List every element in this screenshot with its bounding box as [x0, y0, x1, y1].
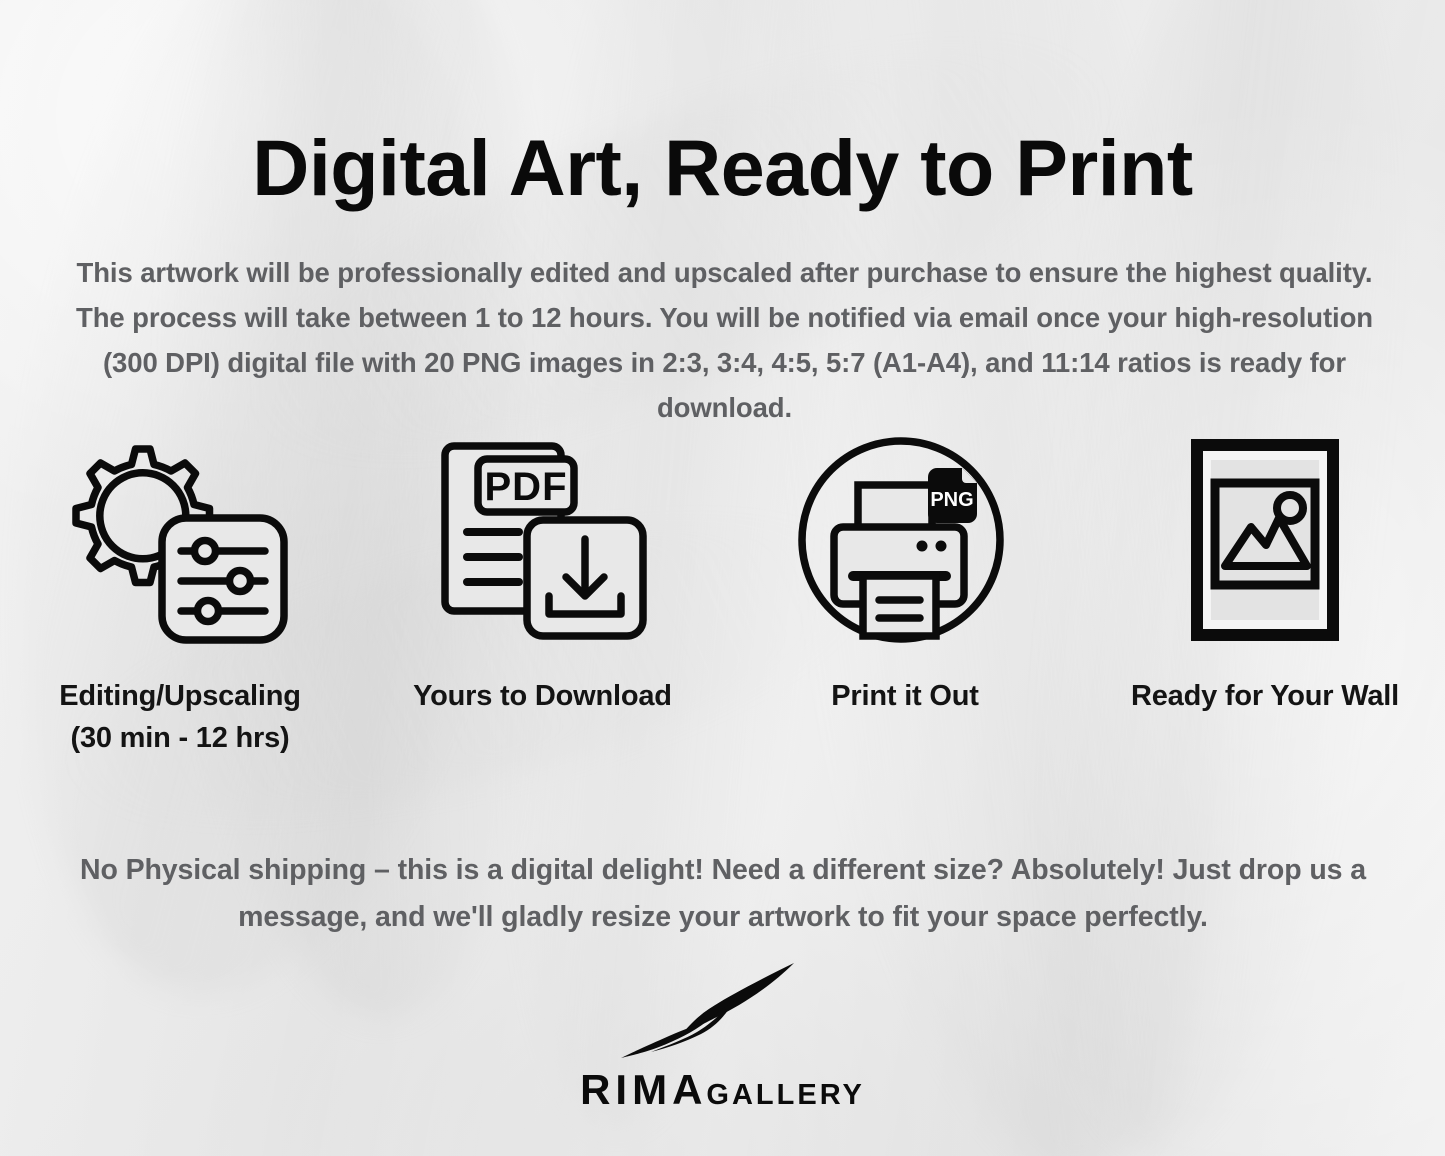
logo-name-primary: RIM	[580, 1066, 672, 1114]
feature-item-print-it-out: PNG Print it Out	[725, 418, 1085, 717]
feature-item-yours-to-download: PDF Yours to Download	[360, 418, 725, 717]
page-title: Digital Art, Ready to Print	[0, 127, 1445, 210]
feature-label-line1: Ready for Your Wall	[1131, 675, 1399, 717]
logo-name-secondary: GALLERY	[706, 1079, 864, 1112]
gear-settings-sliders-icon	[64, 418, 296, 663]
feature-label: Editing/Upscaling (30 min - 12 hrs)	[59, 675, 301, 759]
feature-label: Ready for Your Wall	[1131, 675, 1399, 717]
brand-logo: RIM A GALLERY	[0, 952, 1445, 1114]
printer-in-circle-icon: PNG	[794, 418, 1016, 663]
feature-item-ready-for-your-wall: Ready for Your Wall	[1085, 418, 1445, 717]
rima-swoosh-mark-icon	[593, 952, 853, 1064]
png-badge-text: PNG	[930, 489, 973, 511]
pdf-document-download-icon: PDF	[437, 418, 649, 663]
feature-label-line1: Print it Out	[831, 675, 978, 717]
logo-name-triangle-a: A	[672, 1066, 704, 1114]
intro-paragraph: This artwork will be professionally edit…	[72, 250, 1377, 430]
feature-label: Print it Out	[831, 675, 978, 717]
poster-canvas: Digital Art, Ready to Print This artwork…	[0, 0, 1445, 1156]
feature-label-line2: (30 min - 12 hrs)	[59, 717, 301, 759]
feature-label: Yours to Download	[413, 675, 672, 717]
feature-label-line1: Yours to Download	[413, 675, 672, 717]
feature-label-line1: Editing/Upscaling	[59, 675, 301, 717]
feature-item-editing-upscaling: Editing/Upscaling (30 min - 12 hrs)	[0, 418, 360, 759]
logo-wordmark: RIM A GALLERY	[580, 1066, 865, 1114]
outro-paragraph: No Physical shipping – this is a digital…	[48, 847, 1398, 943]
pdf-badge-text: PDF	[484, 465, 567, 509]
feature-row: Editing/Upscaling (30 min - 12 hrs)	[0, 418, 1445, 759]
framed-picture-icon	[1181, 418, 1349, 663]
